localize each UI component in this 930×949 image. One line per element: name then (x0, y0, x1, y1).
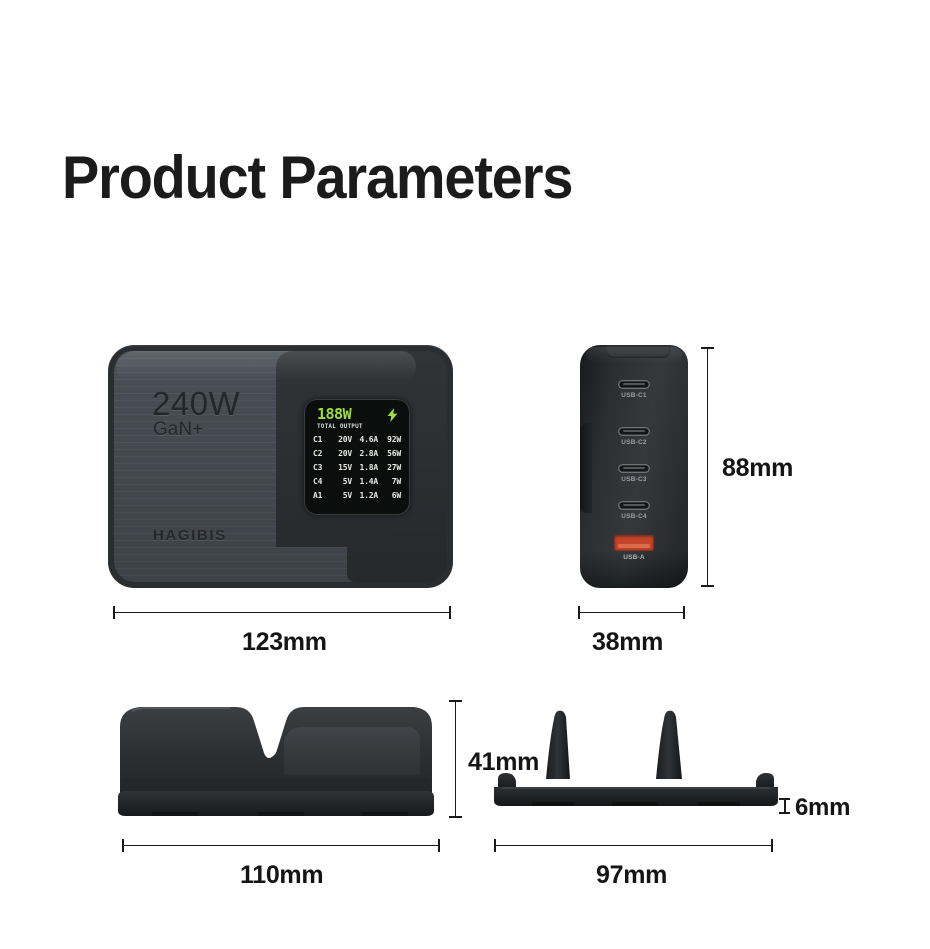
lcd-cell-amps: 2.8A (352, 447, 378, 460)
lcd-cell-volts: 20V (330, 433, 352, 446)
dimension-line-section-width (494, 845, 773, 846)
usb-c-port-icon (618, 501, 650, 510)
lcd-cell-volts: 15V (330, 461, 352, 474)
lcd-cell-volts: 5V (330, 489, 352, 502)
usb-c-port-icon (618, 464, 650, 473)
lcd-port-row: C120V4.6A92W (313, 433, 401, 446)
lcd-cell-watts: 56W (378, 447, 401, 460)
page-title: Product Parameters (62, 143, 572, 212)
tech-badge: GaN+ (153, 419, 203, 441)
stand-foot (152, 812, 198, 816)
section-notch (698, 802, 740, 806)
lcd-cell-port: A1 (313, 489, 330, 502)
dimension-marker-section-thickness (784, 798, 786, 814)
dimension-label-front-width: 123mm (242, 628, 327, 657)
lcd-port-table: C120V4.6A92WC220V2.8A56WC315V1.8A27WC45V… (313, 433, 401, 502)
usb-c-port-icon (618, 380, 650, 389)
lcd-display: 188W TOTAL OUTPUT C120V4.6A92WC220V2.8A5… (304, 399, 410, 515)
port-label-usb-c2: USB-C2 (621, 439, 646, 446)
section-notch (612, 802, 658, 806)
lcd-cell-watts: 7W (378, 475, 401, 488)
lcd-cell-amps: 1.2A (352, 489, 378, 502)
dimension-label-side-width: 38mm (592, 628, 663, 657)
port-usb-c1: USB-C1 (618, 380, 650, 399)
dimension-label-section-width: 97mm (596, 861, 667, 890)
lcd-cell-watts: 6W (378, 489, 401, 502)
port-label-usb-c4: USB-C4 (621, 513, 646, 520)
charger-side-view: USB-C1 USB-C2 USB-C3 USB-C4 USB-A (572, 345, 688, 588)
port-label-usb-c3: USB-C3 (621, 476, 646, 483)
dimension-line-front-width (113, 612, 451, 613)
dimension-line-side-height (707, 347, 708, 587)
stand-side-view (118, 697, 448, 819)
lcd-cell-port: C4 (313, 475, 330, 488)
port-usb-a: USB-A (614, 535, 654, 561)
lcd-port-row: C220V2.8A56W (313, 447, 401, 460)
dimension-label-side-height: 88mm (722, 454, 793, 483)
lcd-cell-amps: 4.6A (352, 433, 378, 446)
usb-c-port-icon (618, 427, 650, 436)
lcd-total-output-label: TOTAL OUTPUT (313, 424, 401, 430)
lcd-header-row: 188W (313, 407, 401, 422)
power-badge: 240W (152, 385, 240, 423)
charger-side-lip (580, 423, 592, 513)
section-fin-left (546, 711, 570, 779)
section-notch (532, 802, 574, 806)
brand-logo: HAGIBIS (153, 527, 227, 544)
stand-foot (258, 812, 304, 816)
lcd-cell-port: C3 (313, 461, 330, 474)
dimension-line-stand-height (455, 700, 456, 818)
lcd-total-output-value: 188W (317, 407, 351, 422)
stand-foot (362, 812, 408, 816)
lcd-cell-watts: 92W (378, 433, 401, 446)
lightning-bolt-icon (387, 408, 398, 422)
lcd-cell-amps: 1.8A (352, 461, 378, 474)
lcd-cell-amps: 1.4A (352, 475, 378, 488)
port-usb-c2: USB-C2 (618, 427, 650, 446)
lcd-cell-watts: 27W (378, 461, 401, 474)
port-usb-c3: USB-C3 (618, 464, 650, 483)
dimension-label-section-thickness: 6mm (795, 794, 850, 822)
stand-section-silhouette (492, 697, 782, 819)
lcd-cell-volts: 5V (330, 475, 352, 488)
lcd-cell-port: C1 (313, 433, 330, 446)
lcd-port-row: A15V1.2A6W (313, 489, 401, 502)
port-label-usb-a: USB-A (623, 554, 645, 561)
stand-side-silhouette (118, 697, 448, 819)
dimension-label-stand-width: 110mm (240, 861, 323, 890)
lcd-port-row: C315V1.8A27W (313, 461, 401, 474)
dimension-line-stand-width (122, 845, 440, 846)
stand-cross-section-view (492, 697, 782, 819)
lcd-cell-volts: 20V (330, 447, 352, 460)
port-label-usb-c1: USB-C1 (621, 392, 646, 399)
usb-a-port-icon (614, 535, 654, 551)
charger-side-gloss-highlight (586, 347, 682, 363)
lcd-port-row: C45V1.4A7W (313, 475, 401, 488)
lcd-cell-port: C2 (313, 447, 330, 460)
dimension-line-side-width (578, 612, 685, 613)
charger-side-body: USB-C1 USB-C2 USB-C3 USB-C4 USB-A (580, 345, 688, 588)
section-fin-right (656, 711, 682, 779)
port-usb-c4: USB-C4 (618, 501, 650, 520)
charger-front-view: 240W GaN+ HAGIBIS 188W TOTAL OUTPUT C120… (108, 345, 453, 588)
charger-front-body: 240W GaN+ HAGIBIS 188W TOTAL OUTPUT C120… (108, 345, 453, 588)
stand-right-platform (284, 727, 420, 775)
